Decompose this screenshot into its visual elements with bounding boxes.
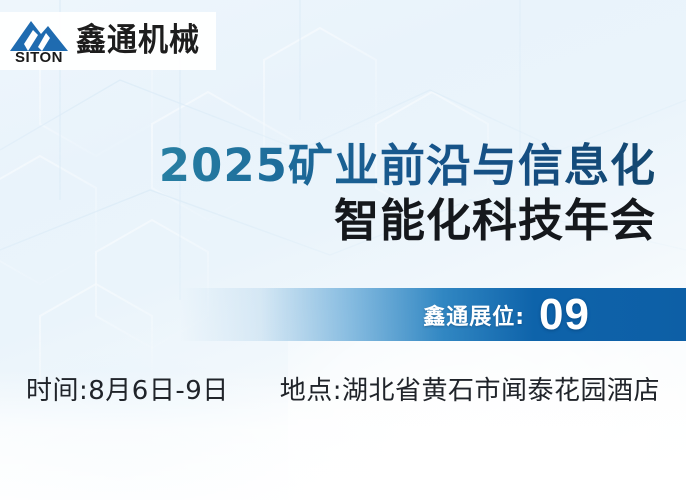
event-time: 时间:8月6日-9日	[26, 370, 229, 407]
event-location: 地点:湖北省黄石市闻泰花园酒店	[280, 370, 660, 407]
headline-block: 2025矿业前沿与信息化 智能化科技年会	[0, 142, 658, 245]
brand-latin-name: SITON	[8, 50, 70, 65]
brand-logo: SITON 鑫通机械	[0, 12, 216, 70]
mountain-logo-icon: SITON	[8, 18, 70, 64]
booth-banner: 鑫通展位: 09	[180, 288, 686, 341]
headline-line-1: 2025矿业前沿与信息化	[0, 142, 658, 189]
event-details-row: 时间:8月6日-9日 地点:湖北省黄石市闻泰花园酒店	[0, 370, 686, 407]
booth-number: 09	[539, 293, 590, 337]
conference-promo-poster: SITON 鑫通机械 2025矿业前沿与信息化 智能化科技年会 鑫通展位: 09…	[0, 0, 686, 500]
brand-chinese-name: 鑫通机械	[76, 25, 200, 57]
booth-label: 鑫通展位:	[423, 299, 525, 331]
headline-line-2: 智能化科技年会	[0, 197, 658, 244]
hexagon-background-pattern	[0, 0, 686, 500]
